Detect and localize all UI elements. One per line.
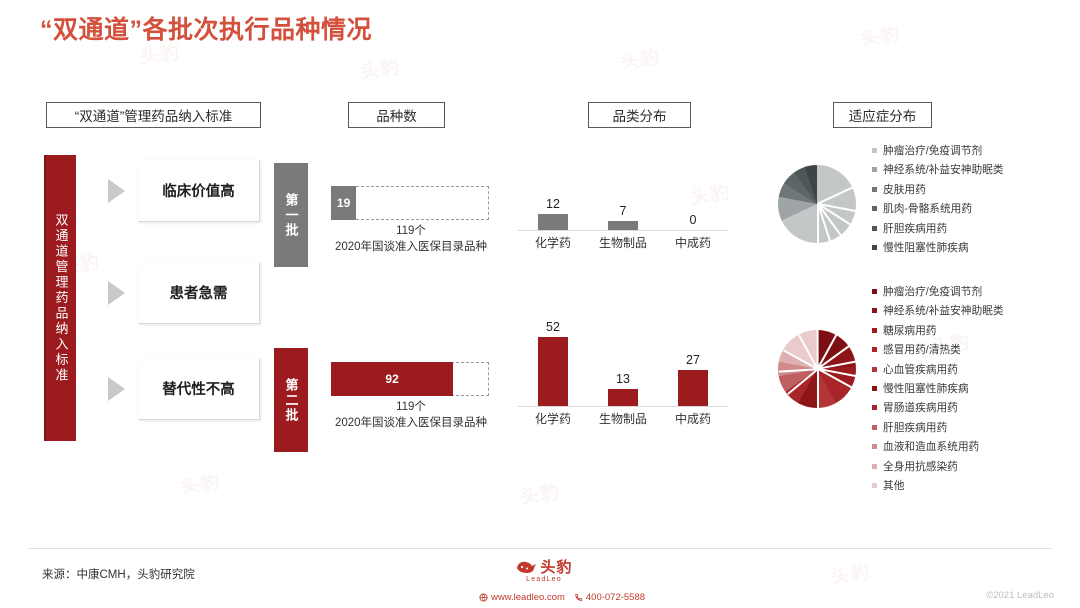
legend-label: 神经系统/补益安神助眠类 bbox=[883, 303, 1004, 318]
watermark: 头豹 bbox=[518, 477, 561, 509]
bar-plot-area: 1270 bbox=[518, 132, 728, 230]
legend-item: 神经系统/补益安神助眠类 bbox=[872, 303, 1062, 318]
legend-swatch bbox=[872, 308, 877, 313]
pie-slice-divider bbox=[817, 330, 819, 369]
bar-item: 27 bbox=[662, 308, 724, 406]
phone-icon bbox=[574, 593, 583, 602]
legend-label: 胃肠道疾病用药 bbox=[883, 400, 958, 415]
legend-label: 慢性阻塞性肺疾病 bbox=[883, 381, 969, 396]
legend-label: 肿瘤治疗/免疫调节剂 bbox=[883, 284, 982, 299]
legend-swatch bbox=[872, 386, 877, 391]
legend-item: 慢性阻塞性肺疾病 bbox=[872, 381, 1062, 396]
batch-caption-first: 119个 2020年国谈准入医保目录品种 bbox=[300, 224, 522, 255]
legend-item: 胃肠道疾病用药 bbox=[872, 400, 1062, 415]
batch-caption-second: 119个 2020年国谈准入医保目录品种 bbox=[300, 400, 522, 431]
legend-item: 全身用抗感染药 bbox=[872, 459, 1062, 474]
legend-label: 皮肤用药 bbox=[883, 182, 926, 197]
leopard-logo-icon bbox=[515, 559, 537, 575]
legend-item: 肝胆疾病用药 bbox=[872, 420, 1062, 435]
phone-number[interactable]: 400-072-5588 bbox=[574, 592, 645, 603]
indication-pie-chart-first bbox=[778, 165, 856, 243]
bar-value-label: 13 bbox=[616, 372, 630, 386]
legend-label: 神经系统/补益安神助眠类 bbox=[883, 162, 1004, 177]
batch-total: 119个 bbox=[300, 400, 522, 416]
bar-rect bbox=[538, 214, 568, 230]
legend-swatch bbox=[872, 187, 877, 192]
legend-swatch bbox=[872, 444, 877, 449]
legend-swatch bbox=[872, 328, 877, 333]
legend-item: 肿瘤治疗/免疫调节剂 bbox=[872, 284, 1062, 299]
legend-swatch bbox=[872, 405, 877, 410]
legend-label: 肝胆疾病用药 bbox=[883, 420, 947, 435]
criteria-card: 替代性不高 bbox=[138, 358, 260, 420]
batch-progress-bar-first: 19 bbox=[331, 186, 489, 220]
batch-tag-label: 第一批 bbox=[282, 193, 301, 238]
pie-slice-divider bbox=[817, 187, 853, 205]
copyright-text: ©2021 LeadLeo bbox=[986, 590, 1054, 601]
legend-label: 肿瘤治疗/免疫调节剂 bbox=[883, 143, 982, 158]
watermark: 头豹 bbox=[828, 557, 871, 589]
indication-pie-chart-second bbox=[778, 330, 856, 408]
bar-value-label: 0 bbox=[690, 213, 697, 227]
watermark: 头豹 bbox=[358, 52, 401, 84]
criteria-card: 临床价值高 bbox=[138, 160, 260, 222]
bar-category-labels: 化学药生物制品中成药 bbox=[518, 410, 728, 427]
legend-item: 感冒用药/清热类 bbox=[872, 342, 1062, 357]
bar-value-label: 7 bbox=[620, 204, 627, 218]
legend-label: 慢性阻塞性肺疾病 bbox=[883, 240, 969, 255]
arrow-icon bbox=[108, 281, 125, 305]
axis-baseline bbox=[518, 230, 728, 231]
bar-rect bbox=[538, 337, 568, 406]
legend-item: 皮肤用药 bbox=[872, 182, 1062, 197]
indication-legend-second: 肿瘤治疗/免疫调节剂神经系统/补益安神助眠类糖尿病用药感冒用药/清热类心血管疾病… bbox=[872, 284, 1062, 497]
axis-baseline bbox=[518, 406, 728, 407]
pie-slice-divider bbox=[787, 368, 818, 394]
bar-value-label: 52 bbox=[546, 320, 560, 334]
legend-item: 血液和造血系统用药 bbox=[872, 439, 1062, 454]
legend-swatch bbox=[872, 167, 877, 172]
legend-swatch bbox=[872, 245, 877, 250]
category-bar-chart-second: 521327 化学药生物制品中成药 bbox=[518, 308, 728, 428]
batch-tag-label: 第二批 bbox=[282, 378, 301, 423]
legend-item: 其他 bbox=[872, 478, 1062, 493]
batch-total: 119个 bbox=[300, 224, 522, 240]
legend-item: 心血管疾病用药 bbox=[872, 362, 1062, 377]
legend-label: 血液和造血系统用药 bbox=[883, 439, 979, 454]
legend-label: 肌肉-骨骼系统用药 bbox=[883, 201, 972, 216]
legend-label: 感冒用药/清热类 bbox=[883, 342, 961, 357]
bar-category-label: 中成药 bbox=[662, 410, 724, 427]
footer-divider bbox=[28, 548, 1052, 549]
bar-value-label: 12 bbox=[546, 197, 560, 211]
bar-item: 12 bbox=[522, 132, 584, 230]
source-note: 来源：中康CMH，头豹研究院 bbox=[42, 566, 195, 582]
section-header-criteria: “双通道”管理药品纳入标准 bbox=[46, 102, 261, 128]
batch-caption-text: 2020年国谈准入医保目录品种 bbox=[300, 240, 522, 256]
bar-item: 52 bbox=[522, 308, 584, 406]
arrow-icon bbox=[108, 179, 125, 203]
bar-category-label: 生物制品 bbox=[592, 410, 654, 427]
indication-legend-first: 肿瘤治疗/免疫调节剂神经系统/补益安神助眠类皮肤用药肌肉-骨骼系统用药肝胆疾病用… bbox=[872, 143, 1062, 259]
bar-plot-area: 521327 bbox=[518, 308, 728, 406]
legend-label: 糖尿病用药 bbox=[883, 323, 936, 338]
batch-progress-bar-second: 92 bbox=[331, 362, 489, 396]
bar-rect bbox=[678, 370, 708, 406]
legend-swatch bbox=[872, 206, 877, 211]
legend-item: 肿瘤治疗/免疫调节剂 bbox=[872, 143, 1062, 158]
legend-swatch bbox=[872, 347, 877, 352]
bar-category-labels: 化学药生物制品中成药 bbox=[518, 234, 728, 251]
legend-swatch bbox=[872, 483, 877, 488]
bar-item: 7 bbox=[592, 132, 654, 230]
section-header-count: 品种数 bbox=[348, 102, 445, 128]
legend-item: 神经系统/补益安神助眠类 bbox=[872, 162, 1062, 177]
bar-category-label: 化学药 bbox=[522, 410, 584, 427]
page-title: “双通道”各批次执行品种情况 bbox=[40, 10, 372, 46]
watermark: 头豹 bbox=[618, 42, 661, 74]
bar-item: 0 bbox=[662, 132, 724, 230]
arrow-icon bbox=[108, 377, 125, 401]
batch-caption-text: 2020年国谈准入医保目录品种 bbox=[300, 416, 522, 432]
brand-logo-subtext: LeadLeo bbox=[484, 576, 604, 583]
phone-text: 400-072-5588 bbox=[586, 592, 645, 603]
bar-category-label: 化学药 bbox=[522, 234, 584, 251]
legend-label: 其他 bbox=[883, 478, 904, 493]
bar-value-label: 27 bbox=[686, 353, 700, 367]
progress-fill: 19 bbox=[331, 186, 356, 220]
brand-logo: 头豹 LeadLeo bbox=[484, 556, 604, 583]
pie-slice-divider bbox=[817, 369, 819, 408]
bar-item: 13 bbox=[592, 308, 654, 406]
website-text: www.leadleo.com bbox=[491, 592, 565, 603]
legend-label: 心血管疾病用药 bbox=[883, 362, 958, 377]
bar-category-label: 中成药 bbox=[662, 234, 724, 251]
category-bar-chart-first: 1270 化学药生物制品中成药 bbox=[518, 132, 728, 252]
bar-category-label: 生物制品 bbox=[592, 234, 654, 251]
section-header-indication: 适应症分布 bbox=[833, 102, 932, 128]
progress-fill: 92 bbox=[331, 362, 453, 396]
legend-swatch bbox=[872, 148, 877, 153]
globe-icon bbox=[479, 593, 488, 602]
criteria-vertical-banner-label: 双通道管理药品纳入标准 bbox=[52, 213, 71, 384]
legend-swatch bbox=[872, 367, 877, 372]
bar-rect bbox=[608, 221, 638, 230]
footer-contact: www.leadleo.com 400-072-5588 bbox=[432, 592, 692, 603]
section-header-category: 品类分布 bbox=[588, 102, 691, 128]
legend-swatch bbox=[872, 464, 877, 469]
legend-item: 肝胆疾病用药 bbox=[872, 221, 1062, 236]
legend-swatch bbox=[872, 226, 877, 231]
criteria-vertical-banner: 双通道管理药品纳入标准 bbox=[44, 155, 76, 441]
legend-label: 肝胆疾病用药 bbox=[883, 221, 947, 236]
legend-label: 全身用抗感染药 bbox=[883, 459, 958, 474]
legend-swatch bbox=[872, 425, 877, 430]
criteria-card: 患者急需 bbox=[138, 262, 260, 324]
watermark: 头豹 bbox=[178, 467, 221, 499]
brand-logo-text: 头豹 bbox=[540, 556, 572, 577]
legend-swatch bbox=[872, 289, 877, 294]
legend-item: 慢性阻塞性肺疾病 bbox=[872, 240, 1062, 255]
bar-rect bbox=[608, 389, 638, 406]
watermark: 头豹 bbox=[858, 19, 901, 51]
legend-item: 糖尿病用药 bbox=[872, 323, 1062, 338]
website-link[interactable]: www.leadleo.com bbox=[479, 592, 565, 603]
legend-item: 肌肉-骨骼系统用药 bbox=[872, 201, 1062, 216]
